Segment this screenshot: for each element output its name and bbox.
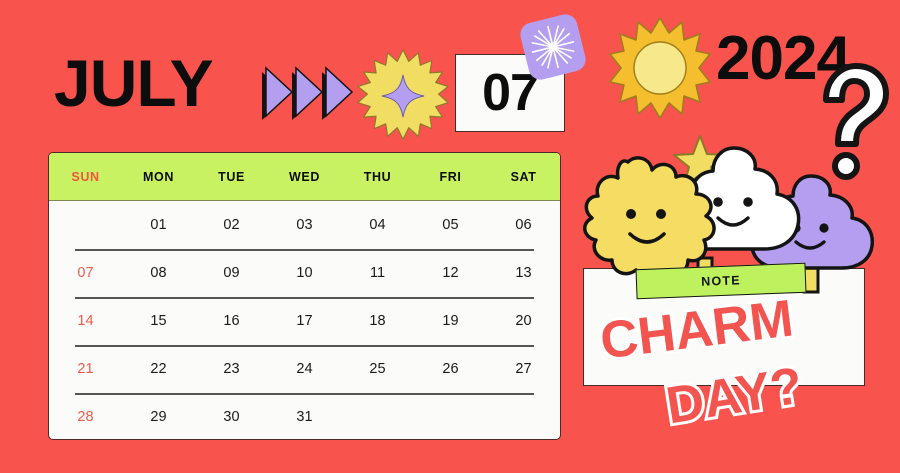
day-cell[interactable]: 27 (487, 345, 560, 393)
weekday-tue: TUE (195, 153, 268, 200)
day-cell[interactable]: 30 (195, 393, 268, 440)
calendar-week-row: 07 08 09 10 11 12 13 (49, 249, 560, 297)
day-cell[interactable] (487, 393, 560, 440)
day-cell[interactable]: 16 (195, 297, 268, 345)
day-cell[interactable]: 31 (268, 393, 341, 440)
weekday-sat: SAT (487, 153, 560, 200)
day-cell[interactable]: 06 (487, 201, 560, 249)
day-cell[interactable] (341, 393, 414, 440)
day-cell[interactable] (49, 201, 122, 249)
calendar-card: SUN MON TUE WED THU FRI SAT 01 02 03 04 … (48, 152, 561, 440)
day-cell[interactable]: 11 (341, 249, 414, 297)
day-cell[interactable]: 18 (341, 297, 414, 345)
day-cell[interactable]: 08 (122, 249, 195, 297)
sun-icon (608, 16, 712, 120)
day-cell[interactable]: 10 (268, 249, 341, 297)
flower-smiley-character (585, 158, 714, 279)
weekday-mon: MON (122, 153, 195, 200)
calendar-grid: 01 02 03 04 05 06 07 08 09 10 11 12 13 1… (49, 201, 560, 440)
day-cell[interactable]: 22 (122, 345, 195, 393)
calendar-weekday-header: SUN MON TUE WED THU FRI SAT (49, 153, 560, 201)
starburst-icon (355, 48, 451, 144)
weekday-wed: WED (268, 153, 341, 200)
day-cell[interactable]: 01 (122, 201, 195, 249)
day-cell[interactable]: 02 (195, 201, 268, 249)
calendar-week-row: 21 22 23 24 25 26 27 (49, 345, 560, 393)
day-cell[interactable]: 19 (414, 297, 487, 345)
calendar-week-row: 01 02 03 04 05 06 (49, 201, 560, 249)
day-cell[interactable]: 03 (268, 201, 341, 249)
day-cell[interactable] (414, 393, 487, 440)
weekday-thu: THU (341, 153, 414, 200)
calendar-week-row: 14 15 16 17 18 19 20 (49, 297, 560, 345)
poster-canvas: JULY 07 (0, 0, 900, 473)
day-cell[interactable]: 09 (195, 249, 268, 297)
day-cell[interactable]: 15 (122, 297, 195, 345)
day-cell[interactable]: 04 (341, 201, 414, 249)
day-cell[interactable]: 20 (487, 297, 560, 345)
day-cell[interactable]: 14 (49, 297, 122, 345)
sparkle-square-icon (518, 12, 588, 82)
day-cell[interactable]: 29 (122, 393, 195, 440)
day-cell[interactable]: 17 (268, 297, 341, 345)
day-cell[interactable]: 05 (414, 201, 487, 249)
day-cell[interactable]: 28 (49, 393, 122, 440)
day-cell[interactable]: 21 (49, 345, 122, 393)
note-banner-label: NOTE (701, 273, 741, 289)
day-cell[interactable]: 24 (268, 345, 341, 393)
weekday-sun: SUN (49, 153, 122, 200)
calendar-week-row: 28 29 30 31 (49, 393, 560, 440)
day-cell[interactable]: 12 (414, 249, 487, 297)
day-cell[interactable]: 25 (341, 345, 414, 393)
day-cell[interactable]: 13 (487, 249, 560, 297)
day-cell[interactable]: 07 (49, 249, 122, 297)
weekday-fri: FRI (414, 153, 487, 200)
month-title: JULY (54, 50, 213, 116)
day-cell[interactable]: 23 (195, 345, 268, 393)
day-cell[interactable]: 26 (414, 345, 487, 393)
triple-chevron-right-icon (258, 66, 354, 126)
